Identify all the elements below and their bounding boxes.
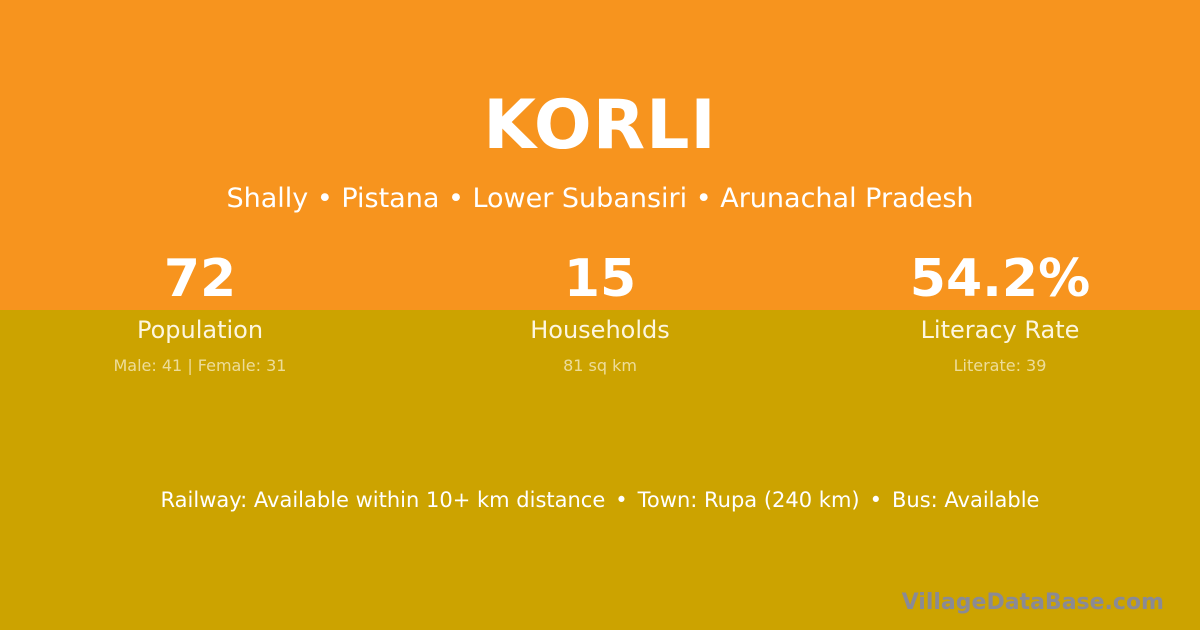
card-content: KORLI Shally • Pistana • Lower Subansiri… bbox=[0, 0, 1200, 630]
stat-label: Population bbox=[0, 314, 400, 346]
infra-separator: • bbox=[860, 485, 892, 515]
stat-label: Literacy Rate bbox=[800, 314, 1200, 346]
infra-separator: • bbox=[605, 485, 637, 515]
stat-literacy-rate: 54.2% Literacy Rate Literate: 39 bbox=[800, 248, 1200, 377]
stat-value: 15 bbox=[400, 248, 800, 310]
stat-label: Households bbox=[400, 314, 800, 346]
site-brand-watermark: VillageDataBase.com bbox=[902, 589, 1164, 617]
stat-population: 72 Population Male: 41 | Female: 31 bbox=[0, 248, 400, 377]
infra-town: Town: Rupa (240 km) bbox=[638, 488, 860, 512]
location-breadcrumb: Shally • Pistana • Lower Subansiri • Aru… bbox=[0, 181, 1200, 217]
stat-value: 54.2% bbox=[800, 248, 1200, 310]
village-name-title: KORLI bbox=[0, 86, 1200, 166]
infrastructure-line: Railway: Available within 10+ km distanc… bbox=[0, 485, 1200, 515]
stat-sublabel: 81 sq km bbox=[400, 355, 800, 377]
stat-value: 72 bbox=[0, 248, 400, 310]
stat-households: 15 Households 81 sq km bbox=[400, 248, 800, 377]
stat-sublabel: Literate: 39 bbox=[800, 355, 1200, 377]
infra-railway: Railway: Available within 10+ km distanc… bbox=[161, 488, 606, 512]
village-info-card: KORLI Shally • Pistana • Lower Subansiri… bbox=[0, 0, 1200, 630]
infra-bus: Bus: Available bbox=[892, 488, 1039, 512]
stats-row: 72 Population Male: 41 | Female: 31 15 H… bbox=[0, 248, 1200, 377]
stat-sublabel: Male: 41 | Female: 31 bbox=[0, 355, 400, 377]
